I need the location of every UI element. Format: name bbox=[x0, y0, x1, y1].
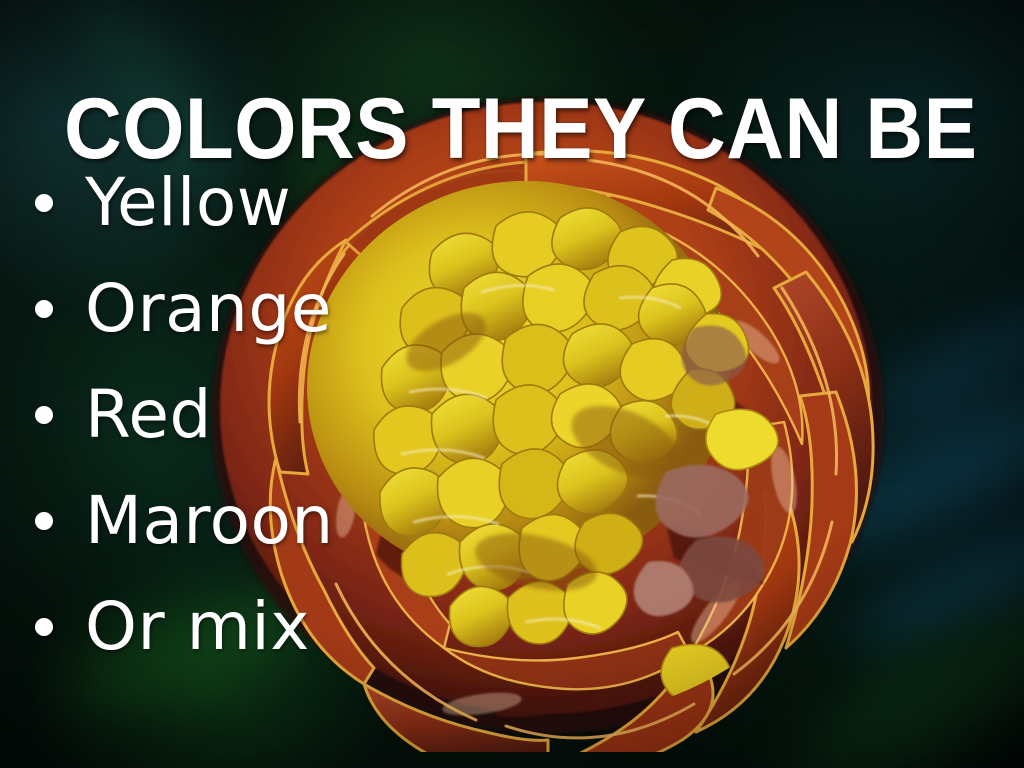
list-item: Red bbox=[28, 362, 628, 468]
bullet-label: Red bbox=[85, 382, 212, 448]
bullet-dot-icon bbox=[35, 194, 53, 212]
bullet-dot-icon bbox=[35, 406, 53, 424]
slide: COLORS THEY CAN BE Yellow Orange Red Mar… bbox=[0, 0, 1024, 768]
bullet-label: Maroon bbox=[85, 488, 334, 554]
bullet-label: Yellow bbox=[85, 170, 291, 236]
list-item: Orange bbox=[28, 256, 628, 362]
list-item: Maroon bbox=[28, 468, 628, 574]
bullet-dot-icon bbox=[35, 300, 53, 318]
list-item: Yellow bbox=[28, 150, 628, 256]
list-item: Or mix bbox=[28, 574, 628, 680]
bullet-list: Yellow Orange Red Maroon Or mix bbox=[28, 150, 628, 680]
bullet-dot-icon bbox=[35, 618, 53, 636]
bullet-label: Orange bbox=[85, 276, 332, 342]
bullet-label: Or mix bbox=[85, 594, 310, 660]
bullet-dot-icon bbox=[35, 512, 53, 530]
